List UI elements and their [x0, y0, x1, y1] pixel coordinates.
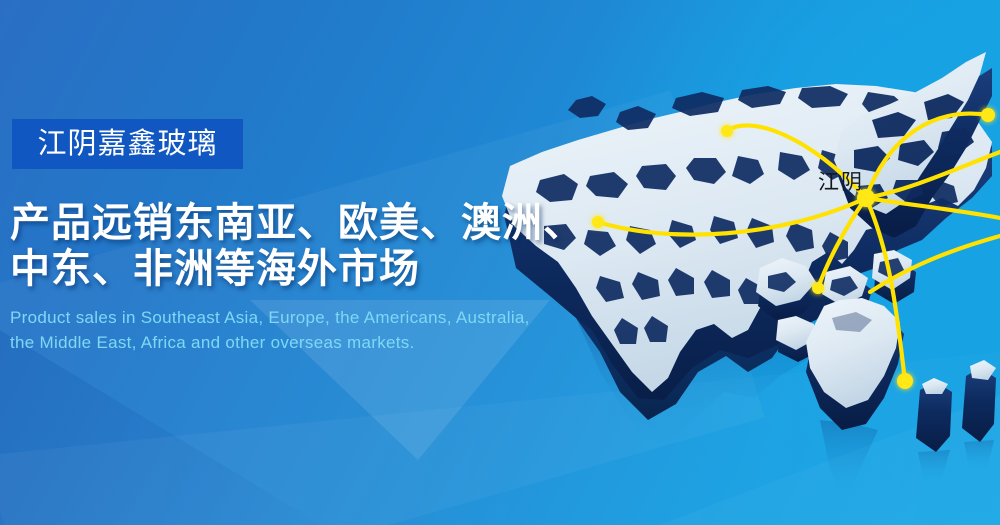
landmass-new-zealand: [916, 360, 996, 484]
subtitle-line-1: Product sales in Southeast Asia, Europe,…: [10, 305, 580, 330]
nz-side: [916, 368, 996, 452]
headline: 产品远销东南亚、欧美、澳洲、 中东、非洲等海外市场: [10, 200, 570, 292]
headline-line-2: 中东、非洲等海外市场: [10, 246, 570, 292]
subtitle-line-2: the Middle East, Africa and other overse…: [10, 330, 580, 355]
brand-badge-label: 江阴嘉鑫玻璃: [37, 130, 217, 159]
node-hub-jiangyin: [857, 189, 875, 207]
node-northwest-europe: [721, 125, 733, 137]
subtitle: Product sales in Southeast Asia, Europe,…: [10, 305, 580, 355]
node-australia: [897, 373, 913, 389]
promo-banner: 江阴 江阴嘉鑫玻璃 产品远销东南亚、欧美、澳洲、 中东、非洲等海外市场 Prod…: [0, 0, 1000, 525]
brand-badge: 江阴嘉鑫玻璃: [12, 119, 243, 169]
banner-text-block: 江阴嘉鑫玻璃 产品远销东南亚、欧美、澳洲、 中东、非洲等海外市场 Product…: [0, 0, 600, 525]
node-southeast-asia: [812, 282, 824, 294]
australia-reflection: [820, 420, 878, 500]
headline-line-1: 产品远销东南亚、欧美、澳洲、: [10, 200, 570, 246]
node-far-east: [981, 108, 995, 122]
landmass-australia: [806, 298, 904, 500]
